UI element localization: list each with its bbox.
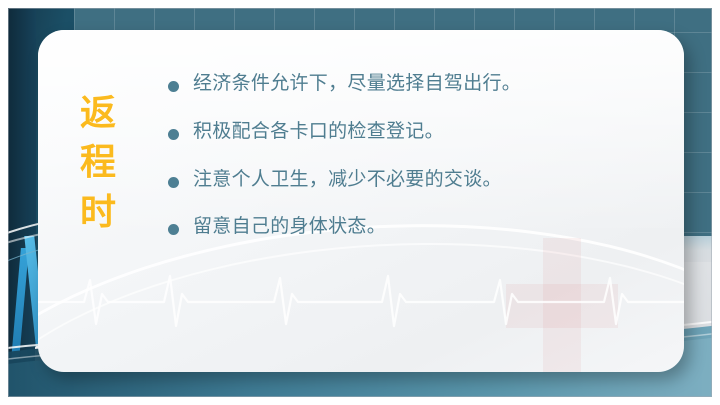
bullet-dot-icon: [168, 81, 179, 92]
vertical-title-char: 返: [80, 94, 116, 131]
vertical-title: 返 程 时: [38, 30, 158, 230]
bullet-dot-icon: [168, 177, 179, 188]
vertical-title-char: 程: [80, 143, 116, 180]
bullet-text: 留意自己的身体状态。: [193, 215, 386, 239]
bullet-text: 积极配合各卡口的检查登记。: [193, 120, 444, 144]
bullet-list: 经济条件允许下，尽量选择自驾出行。 积极配合各卡口的检查登记。 注意个人卫生，减…: [158, 30, 684, 239]
bullet-text: 经济条件允许下，尽量选择自驾出行。: [193, 72, 521, 96]
content-card: 返 程 时 经济条件允许下，尽量选择自驾出行。 积极配合各卡口的检查登记。 注意…: [38, 30, 684, 372]
bullet-text: 注意个人卫生，减少不必要的交谈。: [193, 168, 502, 192]
bullet-dot-icon: [168, 129, 179, 140]
bullet-dot-icon: [168, 224, 179, 235]
vertical-title-char: 时: [80, 193, 116, 230]
slide-canvas: 返 程 时 经济条件允许下，尽量选择自驾出行。 积极配合各卡口的检查登记。 注意…: [0, 0, 720, 405]
list-item: 注意个人卫生，减少不必要的交谈。: [168, 168, 662, 192]
list-item: 积极配合各卡口的检查登记。: [168, 120, 662, 144]
card-content: 返 程 时 经济条件允许下，尽量选择自驾出行。 积极配合各卡口的检查登记。 注意…: [38, 30, 684, 372]
list-item: 留意自己的身体状态。: [168, 215, 662, 239]
list-item: 经济条件允许下，尽量选择自驾出行。: [168, 72, 662, 96]
